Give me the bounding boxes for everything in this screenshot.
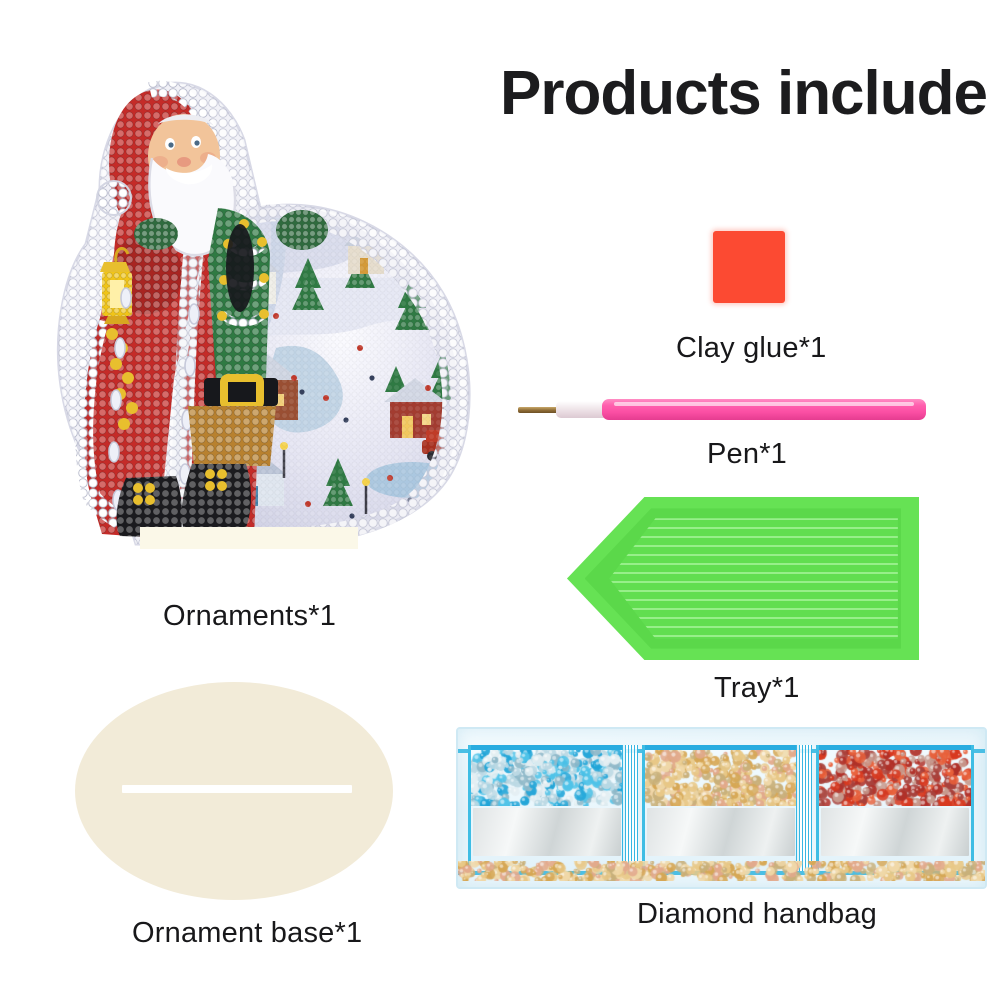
foil-label — [821, 808, 969, 856]
diamond-handbag-icon — [456, 727, 987, 889]
ornaments-label: Ornaments*1 — [163, 600, 336, 633]
pen-label: Pen*1 — [707, 438, 787, 471]
product-contents-canvas: Products include — [0, 0, 1001, 1001]
clay-glue-label: Clay glue*1 — [676, 332, 827, 365]
clay-glue-square-icon — [713, 231, 785, 303]
page-title: Products include — [500, 58, 987, 129]
bag-rib-2 — [796, 745, 812, 871]
gold-gems-pouch — [642, 745, 800, 871]
gold-gems — [645, 750, 797, 806]
ornament-base-label: Ornament base*1 — [132, 917, 362, 950]
blue-gems-pouch — [468, 745, 626, 871]
blue-gems — [471, 750, 623, 806]
red-gems — [819, 750, 971, 806]
tray-label: Tray*1 — [714, 672, 800, 705]
red-gems-pouch — [816, 745, 974, 871]
bag-rib-1 — [622, 745, 638, 871]
foil-label — [647, 808, 795, 856]
santa-ornament-icon — [8, 48, 488, 548]
spilled-gems — [458, 861, 985, 881]
pen-highlight — [614, 402, 914, 406]
ornament-base-slot — [122, 785, 352, 793]
foil-label — [473, 808, 621, 856]
drill-pen-icon — [518, 396, 926, 422]
diamond-tray-icon — [567, 497, 919, 660]
diamond-handbag-label: Diamond handbag — [637, 898, 877, 931]
pen-ferrule — [556, 401, 608, 418]
ornament-stand-strip — [140, 527, 358, 549]
tray-grooved-well — [609, 518, 898, 639]
pen-tip — [518, 407, 560, 413]
